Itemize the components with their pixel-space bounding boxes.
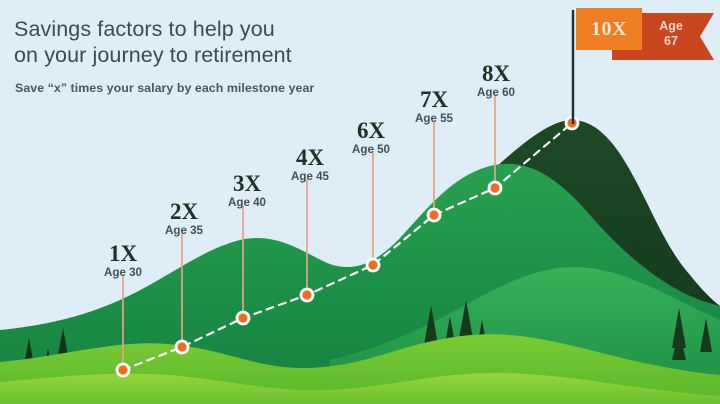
page-title-line-1: Savings factors to help you <box>14 16 444 42</box>
flag-multiplier: 10X <box>576 8 642 50</box>
milestone-age: Age 45 <box>269 170 351 184</box>
summit-flag: 10X Age 67 <box>572 8 714 62</box>
infographic-canvas: Savings factors to help you on your jour… <box>0 0 720 404</box>
milestone-age: Age 55 <box>393 112 475 126</box>
milestone-multiplier: 8X <box>455 62 537 85</box>
milestone-age: Age 40 <box>206 196 288 210</box>
milestone-age: Age 50 <box>330 143 412 157</box>
milestone-multiplier: 1X <box>82 242 164 265</box>
milestone-label-8x: 8X Age 60 <box>455 62 537 100</box>
flag-age-label: Age <box>642 19 700 34</box>
milestone-age: Age 30 <box>82 266 164 280</box>
page-title-line-2: on your journey to retirement <box>14 42 444 68</box>
page-title: Savings factors to help you on your jour… <box>14 16 444 68</box>
flag-age-value: 67 <box>642 34 700 49</box>
milestone-age: Age 35 <box>143 224 225 238</box>
flag-age: Age 67 <box>642 19 700 49</box>
milestone-age: Age 60 <box>455 86 537 100</box>
milestone-label-1x: 1X Age 30 <box>82 242 164 280</box>
